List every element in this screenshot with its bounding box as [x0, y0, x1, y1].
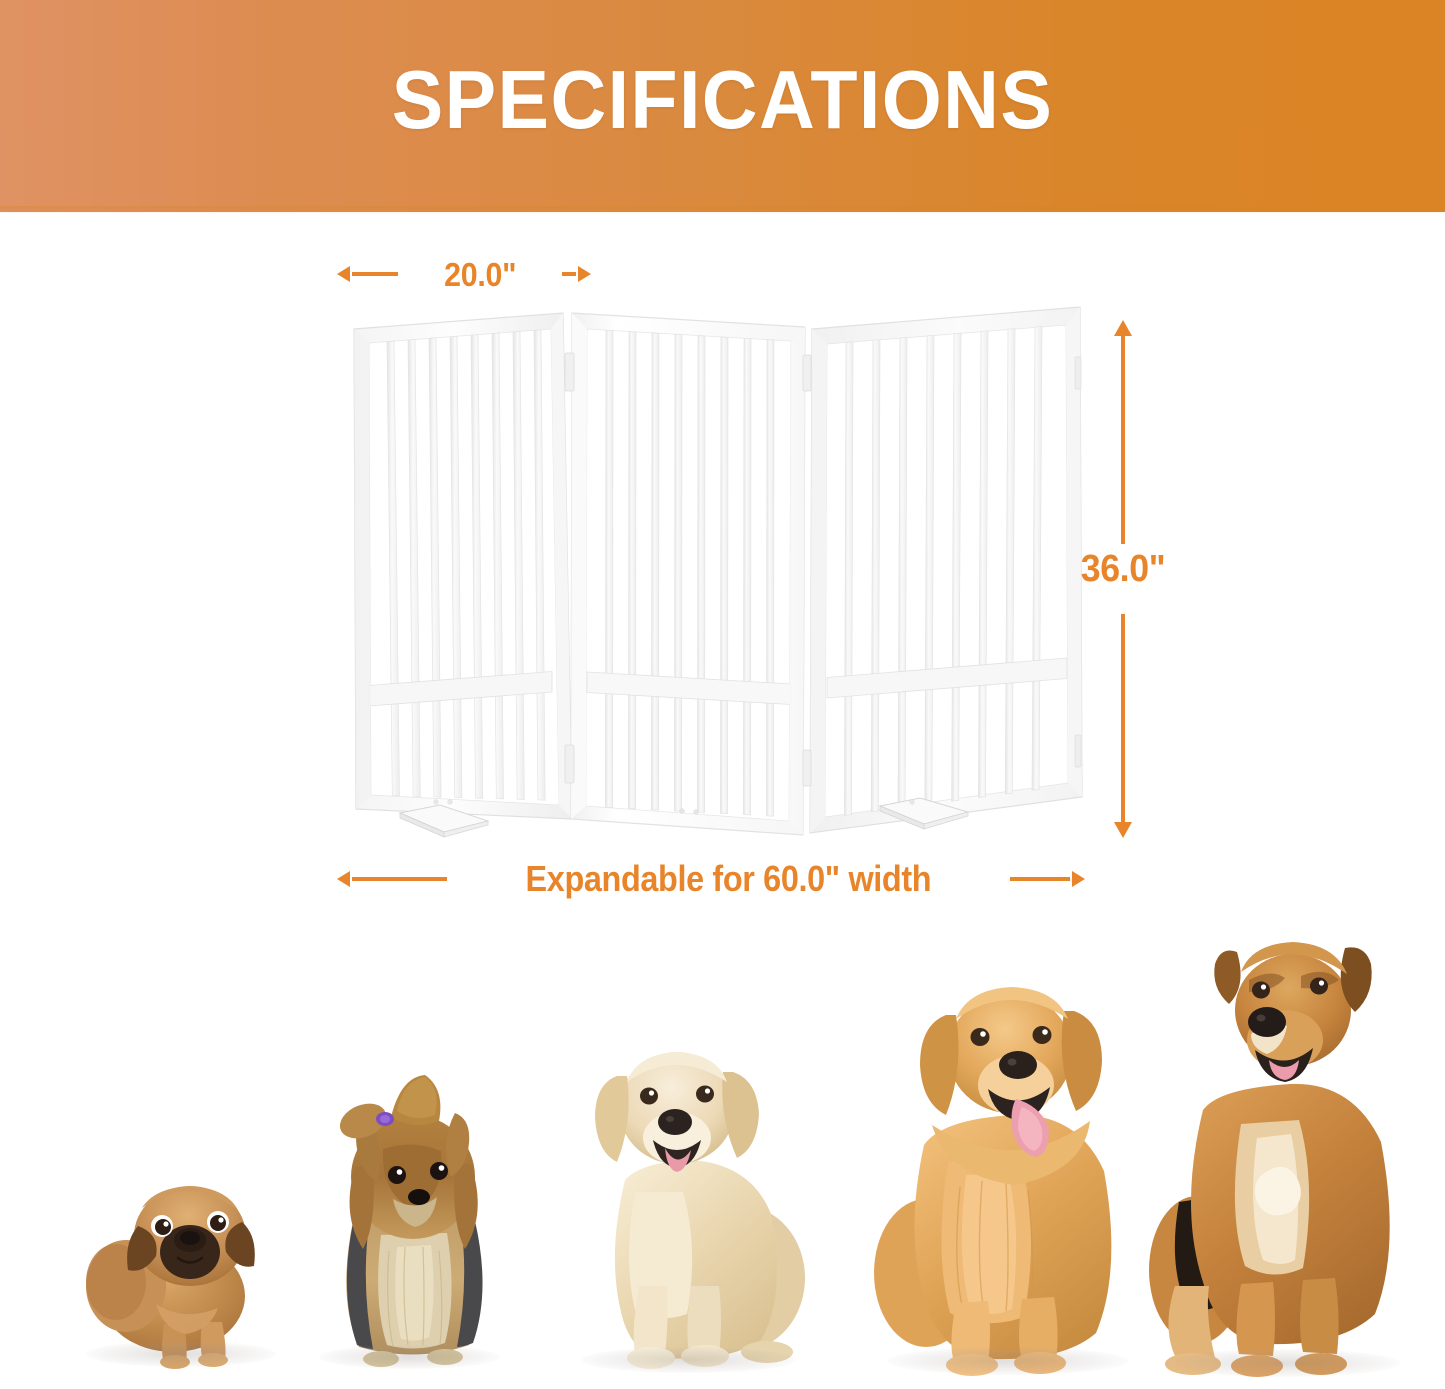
height-dimension-label: 36.0": [1007, 550, 1238, 588]
width-dimension-label: 20.0": [444, 258, 516, 291]
width-dimension: 20.0": [352, 252, 576, 296]
dog-4-golden-retriever: [870, 957, 1155, 1377]
dog-2-yorkshire-terrier: [305, 1071, 520, 1371]
height-line-upper: [1121, 334, 1125, 544]
dog-1-pekingese: [78, 1164, 293, 1369]
dog-size-comparison: [0, 880, 1445, 1389]
header-banner: SPECIFICATIONS: [0, 0, 1445, 212]
dog-5-shepherd-mix: [1145, 914, 1430, 1379]
arrow-left-icon: [352, 272, 398, 276]
page-title: SPECIFICATIONS: [51, 0, 1395, 212]
height-line-lower: [1121, 614, 1125, 824]
specifications-page: SPECIFICATIONS 20.0": [0, 0, 1445, 1389]
height-dimension: 36.0": [1118, 322, 1128, 836]
pet-gate-illustration: [340, 305, 1100, 850]
arrow-down-icon: [1114, 822, 1132, 838]
header-divider: [0, 206, 1445, 214]
left-panel: [354, 313, 572, 837]
center-panel: [571, 313, 805, 835]
dog-3-labrador: [565, 1030, 820, 1375]
arrow-right-icon: [562, 272, 576, 276]
